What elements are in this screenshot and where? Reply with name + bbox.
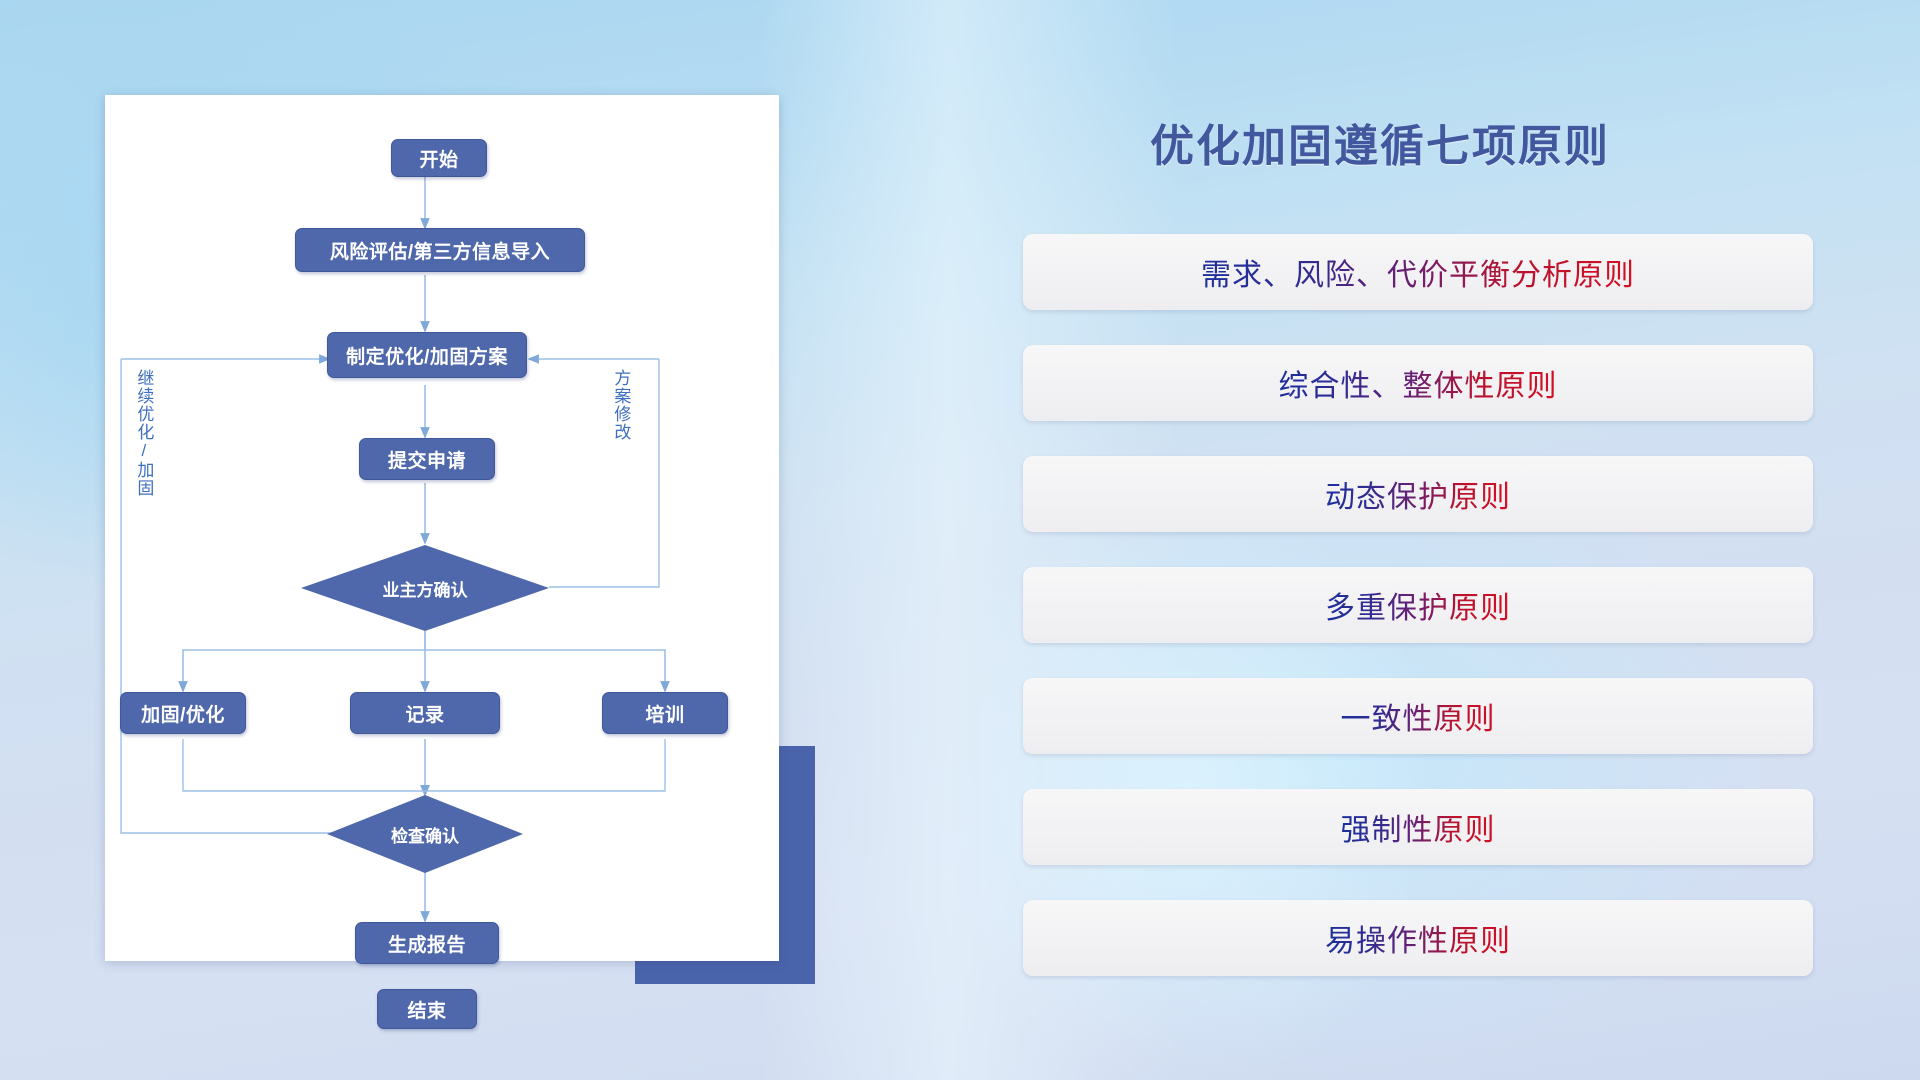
flowchart: 开始 风险评估/第三方信息导入 制定优化/加固方案 提交申请 业主方确认 加固/… <box>105 95 779 961</box>
edge-label-plan-revision: 方案修改 <box>612 369 629 441</box>
flow-node-label: 风险评估/第三方信息导入 <box>330 237 550 264</box>
principle-label: 一致性原则 <box>1341 694 1496 738</box>
flow-node-label: 加固/优化 <box>141 700 225 727</box>
principle-card[interactable]: 动态保护原则 <box>1023 456 1813 532</box>
flow-node-risk-assessment[interactable]: 风险评估/第三方信息导入 <box>295 228 585 272</box>
flow-node-label: 开始 <box>419 145 458 172</box>
flow-node-label: 培训 <box>645 700 684 727</box>
flow-node-generate-report[interactable]: 生成报告 <box>355 922 499 964</box>
principle-label: 强制性原则 <box>1341 805 1496 849</box>
flow-node-label: 记录 <box>405 700 444 727</box>
flow-node-label: 业主方确认 <box>383 576 468 601</box>
principle-card[interactable]: 强制性原则 <box>1023 789 1813 865</box>
principle-card[interactable]: 易操作性原则 <box>1023 900 1813 976</box>
principle-label: 易操作性原则 <box>1325 916 1511 960</box>
principle-card[interactable]: 多重保护原则 <box>1023 567 1813 643</box>
flow-node-plan[interactable]: 制定优化/加固方案 <box>327 332 527 378</box>
flow-node-label: 检查确认 <box>391 822 459 847</box>
flow-node-label: 结束 <box>407 996 446 1023</box>
principle-label: 综合性、整体性原则 <box>1279 361 1558 405</box>
flow-node-submit-application[interactable]: 提交申请 <box>359 438 495 480</box>
flow-node-record[interactable]: 记录 <box>350 692 500 734</box>
flow-node-start[interactable]: 开始 <box>391 139 487 177</box>
principle-card[interactable]: 一致性原则 <box>1023 678 1813 754</box>
flow-node-training[interactable]: 培训 <box>602 692 728 734</box>
flowchart-card: 开始 风险评估/第三方信息导入 制定优化/加固方案 提交申请 业主方确认 加固/… <box>105 95 779 961</box>
principle-label: 动态保护原则 <box>1325 472 1511 516</box>
principle-label: 多重保护原则 <box>1325 583 1511 627</box>
principles-list: 需求、风险、代价平衡分析原则 综合性、整体性原则 动态保护原则 多重保护原则 一… <box>1023 234 1813 1011</box>
principle-label: 需求、风险、代价平衡分析原则 <box>1201 250 1635 294</box>
flow-node-label: 制定优化/加固方案 <box>346 342 508 369</box>
principle-card[interactable]: 需求、风险、代价平衡分析原则 <box>1023 234 1813 310</box>
principle-card[interactable]: 综合性、整体性原则 <box>1023 345 1813 421</box>
flow-node-end[interactable]: 结束 <box>377 989 477 1029</box>
edge-label-continue-optimize: 继续优化/加固 <box>135 369 152 497</box>
flow-node-reinforce-optimize[interactable]: 加固/优化 <box>120 692 246 734</box>
page-title: 优化加固遵循七项原则 <box>1150 110 1850 174</box>
flow-node-label: 生成报告 <box>388 930 466 957</box>
slide-canvas: 开始 风险评估/第三方信息导入 制定优化/加固方案 提交申请 业主方确认 加固/… <box>0 0 1920 1080</box>
flow-node-label: 提交申请 <box>388 446 466 473</box>
